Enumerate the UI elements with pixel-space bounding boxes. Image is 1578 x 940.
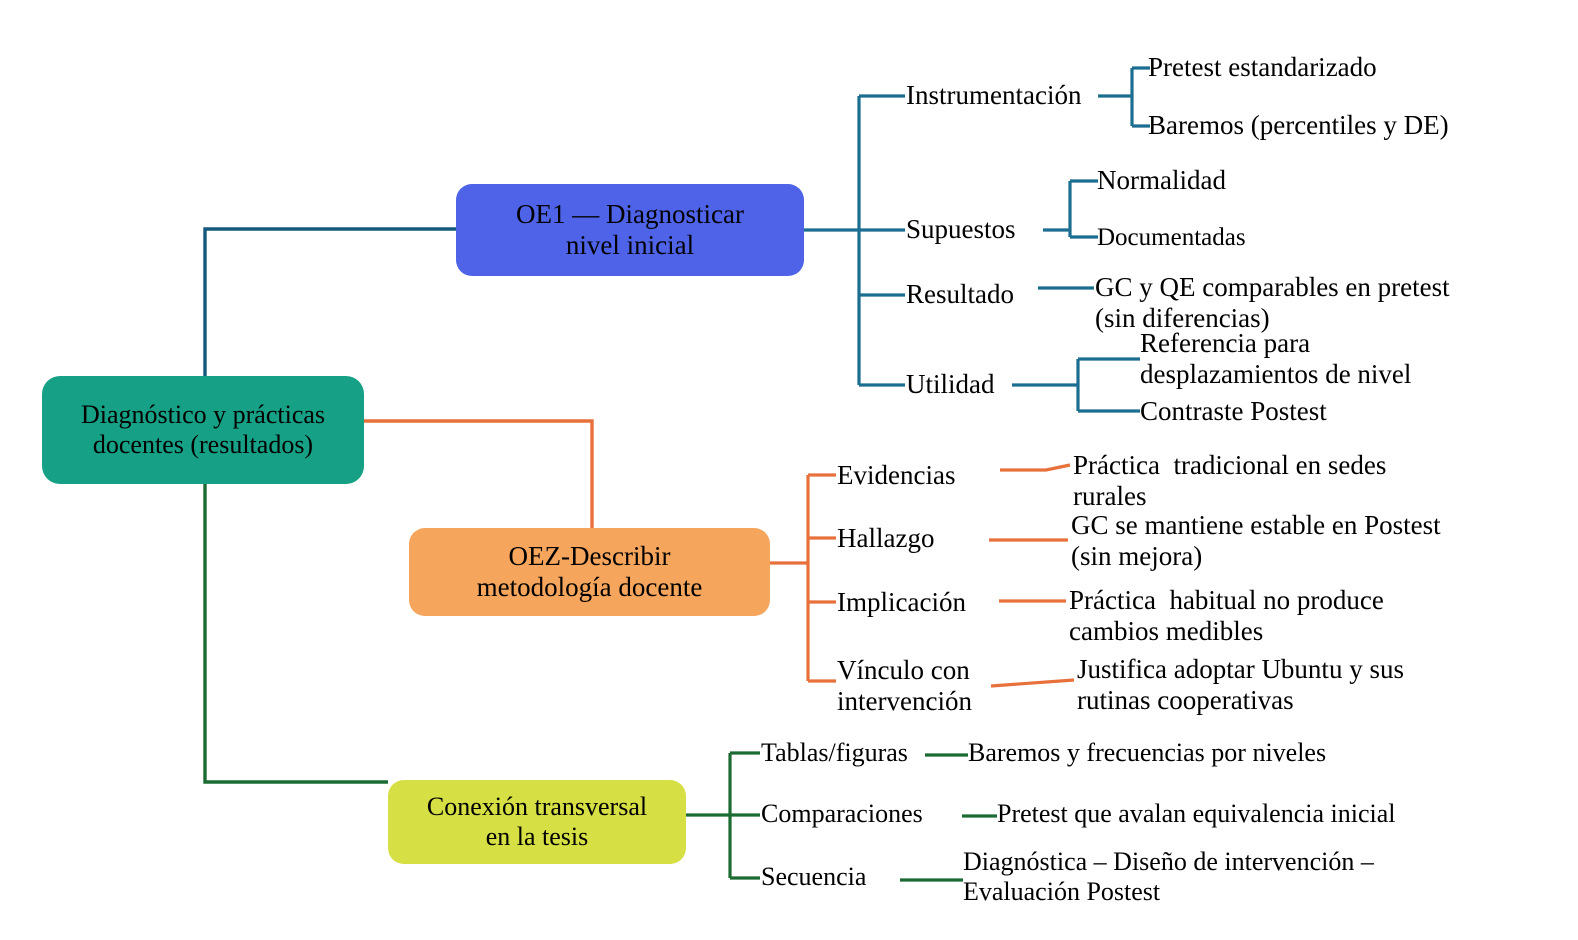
topic-utilidad[interactable]: Utilidad	[906, 369, 995, 400]
edge-supuestos-leaves	[1043, 181, 1098, 237]
leaf-gc-estable-postest[interactable]: GC se mantiene estable en Postest(sin me…	[1071, 510, 1441, 573]
edge-root-to-oez	[364, 421, 592, 528]
topic-tablas-figuras[interactable]: Tablas/figuras	[761, 738, 908, 768]
leaf-justifica-ubuntu[interactable]: Justifica adoptar Ubuntu y susrutinas co…	[1077, 654, 1404, 717]
leaf-gc-qe-comparables[interactable]: GC y QE comparables en pretest(sin difer…	[1095, 272, 1450, 335]
mindmap-canvas: Diagnóstico y prácticasdocentes (resulta…	[0, 0, 1578, 940]
leaf-documentadas[interactable]: Documentadas	[1097, 223, 1246, 252]
node-oe1-label: OE1 — Diagnosticarnivel inicial	[516, 199, 744, 261]
leaf-contraste-postest[interactable]: Contraste Postest	[1140, 396, 1327, 427]
node-oez-label: OEZ-Describirmetodología docente	[477, 541, 703, 603]
topic-supuestos[interactable]: Supuestos	[906, 214, 1016, 245]
leaf-pretest-equivalencia[interactable]: Pretest que avalan equivalencia inicial	[997, 799, 1396, 829]
topic-vinculo-con-intervencion[interactable]: Vínculo conintervención	[837, 655, 972, 718]
node-oez[interactable]: OEZ-Describirmetodología docente	[409, 528, 770, 616]
edge-conexion-spine	[686, 753, 760, 878]
node-root[interactable]: Diagnóstico y prácticasdocentes (resulta…	[42, 376, 364, 484]
topic-implicacion[interactable]: Implicación	[837, 587, 966, 618]
leaf-normalidad[interactable]: Normalidad	[1097, 165, 1226, 196]
topic-secuencia[interactable]: Secuencia	[761, 862, 866, 892]
node-root-label: Diagnóstico y prácticasdocentes (resulta…	[81, 400, 325, 460]
leaf-baremos-percentiles[interactable]: Baremos (percentiles y DE)	[1148, 110, 1449, 141]
topic-hallazgo[interactable]: Hallazgo	[837, 523, 934, 554]
node-oe1[interactable]: OE1 — Diagnosticarnivel inicial	[456, 184, 804, 276]
topic-resultado[interactable]: Resultado	[906, 279, 1014, 310]
leaf-referencia-desplazamientos[interactable]: Referencia paradesplazamientos de nivel	[1140, 328, 1411, 391]
leaf-secuencia-diagnostica[interactable]: Diagnóstica – Diseño de intervención –Ev…	[963, 847, 1374, 907]
leaf-pretest-estandarizado[interactable]: Pretest estandarizado	[1148, 52, 1377, 83]
leaf-practica-habitual[interactable]: Práctica habitual no producecambios medi…	[1069, 585, 1384, 648]
edge-oez-spine	[770, 475, 836, 681]
edge-instrumentacion-leaves	[1098, 68, 1150, 126]
node-conexion-label: Conexión transversalen la tesis	[427, 792, 647, 852]
edge-oez-children-leaves	[989, 465, 1074, 686]
edge-root-to-conexion	[205, 484, 388, 782]
topic-instrumentacion[interactable]: Instrumentación	[906, 80, 1081, 111]
edge-utilidad-leaves	[1012, 359, 1140, 411]
node-conexion[interactable]: Conexión transversalen la tesis	[388, 780, 686, 864]
topic-comparaciones[interactable]: Comparaciones	[761, 799, 923, 829]
leaf-baremos-frecuencias[interactable]: Baremos y frecuencias por niveles	[968, 738, 1326, 768]
edge-root-to-oe1	[205, 229, 456, 378]
edge-oe1-spine	[804, 96, 905, 385]
topic-evidencias[interactable]: Evidencias	[837, 460, 955, 491]
leaf-practica-tradicional[interactable]: Práctica tradicional en sedesrurales	[1073, 450, 1386, 513]
